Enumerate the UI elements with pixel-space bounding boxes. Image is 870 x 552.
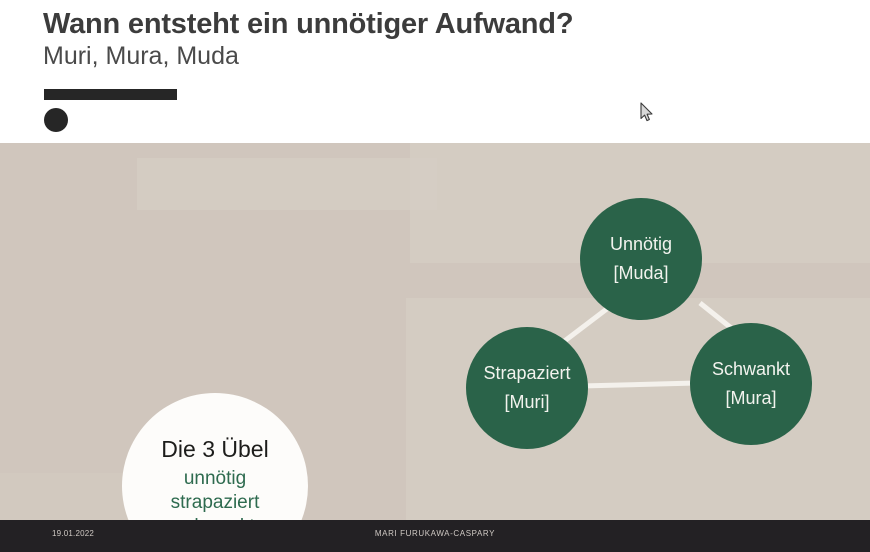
slide-header: Wann entsteht ein unnötiger Aufwand? Mur… <box>0 0 870 143</box>
summary-circle-item-1: unnötig <box>184 467 246 491</box>
background-patch <box>0 473 140 520</box>
summary-circle-heading: Die 3 Übel <box>161 436 268 462</box>
triangle-diagram: Unnötig [Muda] Strapaziert [Muri] Schwan… <box>440 183 840 513</box>
slide-canvas: Die 3 Übel unnötig strapaziert schwankt … <box>0 143 870 520</box>
summary-circle-item-2: strapaziert <box>171 491 260 515</box>
diagram-node-muri-term: [Muri] <box>505 393 550 413</box>
accent-dot <box>44 108 68 132</box>
page-subtitle: Muri, Mura, Muda <box>43 42 239 71</box>
diagram-node-muri-label: Strapaziert <box>483 364 570 384</box>
accent-bar <box>44 89 177 100</box>
slide-footer: 19.01.2022 MARI FURUKAWA-CASPARY <box>0 520 870 552</box>
diagram-node-muda-term: [Muda] <box>613 264 668 284</box>
page-title: Wann entsteht ein unnötiger Aufwand? <box>43 8 573 41</box>
diagram-node-mura-term: [Mura] <box>725 389 776 409</box>
presentation-slide: Wann entsteht ein unnötiger Aufwand? Mur… <box>0 0 870 552</box>
background-patch <box>137 158 437 210</box>
summary-circle: Die 3 Übel unnötig strapaziert schwankt <box>122 393 308 520</box>
diagram-node-muri[interactable]: Strapaziert [Muri] <box>466 327 588 449</box>
diagram-node-muda[interactable]: Unnötig [Muda] <box>580 198 702 320</box>
diagram-node-mura-label: Schwankt <box>712 360 790 380</box>
footer-author: MARI FURUKAWA-CASPARY <box>0 529 870 538</box>
diagram-node-muda-label: Unnötig <box>610 235 672 255</box>
diagram-node-mura[interactable]: Schwankt [Mura] <box>690 323 812 445</box>
